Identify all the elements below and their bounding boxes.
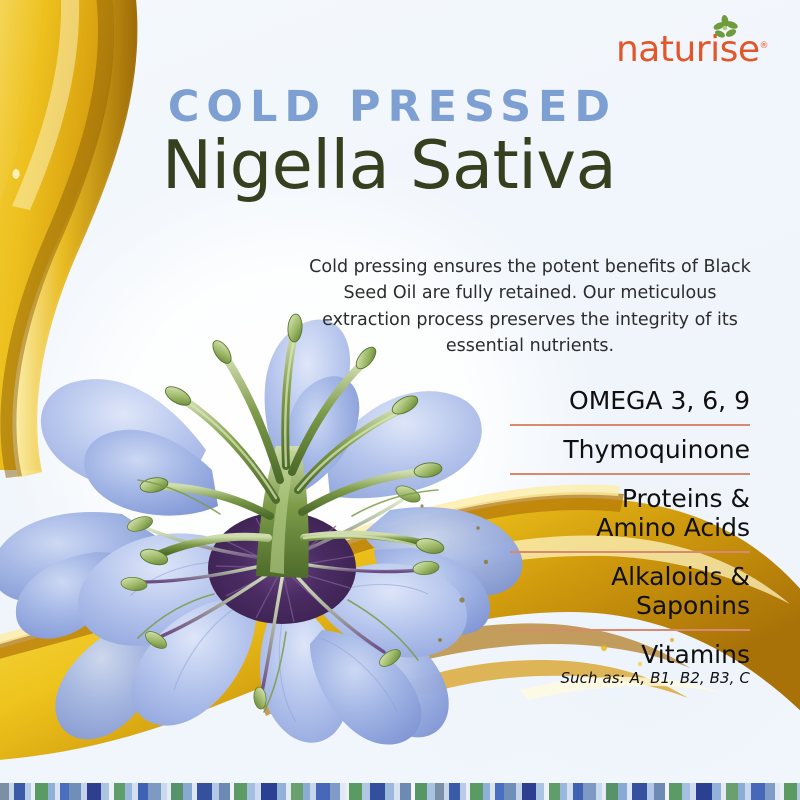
infographic-canvas: naturise® COLD PRESSED Nigella Sativa Co… — [0, 0, 800, 800]
stripe-segment — [148, 783, 161, 800]
stripe-segment — [261, 783, 277, 800]
intro-paragraph: Cold pressing ensures the potent benefit… — [305, 254, 755, 360]
stripe-segment — [606, 783, 618, 800]
benefit-divider — [510, 551, 750, 553]
stripe-segment — [427, 783, 435, 800]
kicker-cold-pressed: COLD PRESSED — [0, 86, 778, 129]
stripe-segment — [277, 783, 286, 800]
benefit-sublabel: Such as: A, B1, B2, B3, C — [510, 670, 750, 687]
benefit-item-alkaloids: Alkaloids & Saponins — [510, 562, 750, 620]
stripe-segment — [330, 783, 340, 800]
benefit-divider — [510, 473, 750, 475]
stripe-segment — [400, 783, 411, 800]
stripe-segment — [647, 783, 654, 800]
stripe-segment — [0, 783, 9, 800]
stripe-segment — [138, 783, 148, 800]
stripe-segment — [171, 783, 183, 800]
stripe-segment — [35, 783, 48, 800]
registered-mark: ® — [760, 41, 769, 51]
benefit-item-vitamins: Vitamins Such as: A, B1, B2, B3, C — [510, 640, 750, 687]
benefit-label: Alkaloids & Saponins — [510, 562, 750, 620]
stripe-segment — [696, 783, 712, 800]
benefits-list: OMEGA 3, 6, 9 Thymoquinone Proteins & Am… — [510, 386, 750, 687]
benefit-label: Thymoquinone — [510, 435, 750, 464]
stripe-segment — [316, 783, 330, 800]
stripe-segment — [726, 783, 738, 800]
stripe-segment — [349, 783, 362, 800]
stripe-segment — [197, 783, 212, 800]
stripe-segment — [654, 783, 665, 800]
stripe-segment — [549, 783, 560, 800]
brand-wordmark: naturise® — [616, 32, 768, 68]
stripe-segment — [449, 783, 460, 800]
stripe-segment — [536, 783, 544, 800]
stripe-segment — [632, 783, 647, 800]
benefit-item-proteins: Proteins & Amino Acids — [510, 484, 750, 542]
brand-logo[interactable]: naturise® — [616, 20, 768, 68]
stripe-segment — [114, 783, 125, 800]
stripe-segment — [583, 783, 596, 800]
stripe-segment — [504, 783, 516, 800]
benefit-label: OMEGA 3, 6, 9 — [510, 386, 750, 415]
stripe-segment — [784, 783, 797, 800]
page-title: Nigella Sativa — [0, 131, 778, 199]
stripe-segment — [573, 783, 583, 800]
stripe-segment — [219, 783, 230, 800]
footer-stripe-band — [0, 783, 800, 800]
stripe-segment — [125, 783, 132, 800]
stripe-segment — [183, 783, 192, 800]
stripe-segment — [234, 783, 247, 800]
stripe-segment — [385, 783, 394, 800]
stripe-segment — [362, 783, 370, 800]
benefit-label: Vitamins — [510, 640, 750, 669]
stripe-segment — [470, 783, 483, 800]
stripe-segment — [48, 783, 55, 800]
leaf-flower-icon — [710, 14, 740, 44]
stripe-segment — [303, 783, 310, 800]
stripe-segment — [14, 783, 25, 800]
stripe-segment — [415, 783, 427, 800]
stripe-segment — [712, 783, 721, 800]
stripe-segment — [618, 783, 627, 800]
headline-block: COLD PRESSED Nigella Sativa — [0, 86, 778, 199]
stripe-segment — [69, 783, 81, 800]
stripe-segment — [291, 783, 303, 800]
stripe-segment — [560, 783, 567, 800]
stripe-segment — [60, 783, 69, 800]
stripe-segment — [483, 783, 490, 800]
stripe-segment — [87, 783, 101, 800]
stripe-segment — [212, 783, 219, 800]
stripe-segment — [370, 783, 385, 800]
stripe-segment — [247, 783, 255, 800]
stripe-segment — [669, 783, 682, 800]
nigella-flower-image — [0, 300, 530, 770]
benefit-divider — [510, 424, 750, 426]
stripe-segment — [738, 783, 745, 800]
stripe-segment — [522, 783, 536, 800]
stripe-segment — [101, 783, 109, 800]
stripe-segment — [435, 783, 444, 800]
stripe-segment — [682, 783, 690, 800]
stripe-segment — [495, 783, 504, 800]
benefit-divider — [510, 629, 750, 631]
benefit-label: Proteins & Amino Acids — [510, 484, 750, 542]
stripe-segment — [765, 783, 775, 800]
benefit-item-omega: OMEGA 3, 6, 9 — [510, 386, 750, 415]
benefit-item-thymoquinone: Thymoquinone — [510, 435, 750, 464]
stripe-segment — [751, 783, 765, 800]
